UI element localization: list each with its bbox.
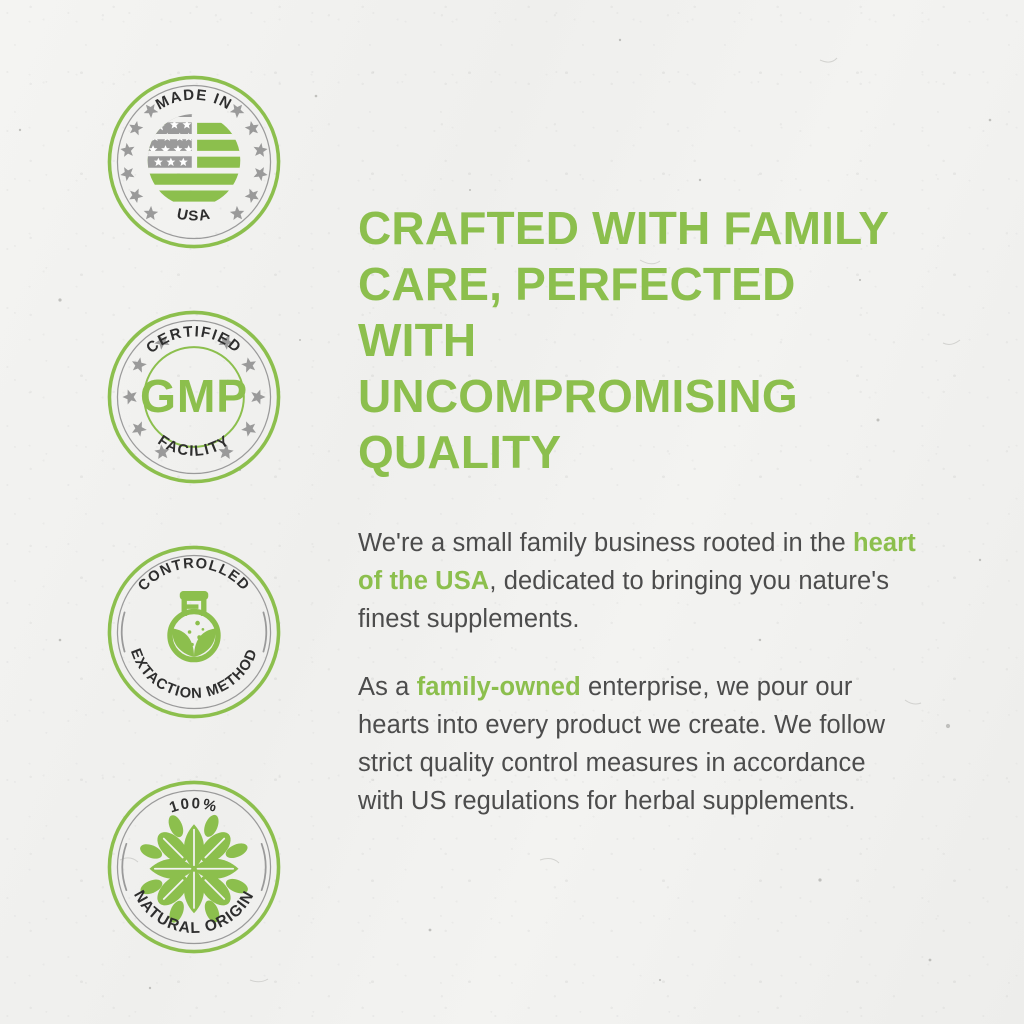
svg-text:CERTIFIED: CERTIFIED [143, 323, 245, 357]
badge-natural-origin: 100% NATURAL ORIGIN [105, 778, 283, 956]
plain-text: We're a small family business rooted in … [358, 529, 853, 557]
paragraph-1: We're a small family business rooted in … [358, 524, 918, 638]
badge-top-text: CONTROLLED [135, 556, 253, 595]
badge-controlled-extraction-method: CONTROLLED EXTACTION METHOD [105, 543, 283, 721]
badge-top-text: 100% [167, 795, 220, 816]
side-arc-decoration [122, 612, 266, 651]
usa-flag-circle-icon [137, 112, 247, 204]
badge-bottom-text: EXTACTION METHOD [127, 646, 261, 702]
svg-text:100%: 100% [167, 795, 220, 816]
paragraph-2: As a family-owned enterprise, we pour ou… [358, 668, 918, 820]
svg-text:EXTACTION METHOD: EXTACTION METHOD [127, 646, 261, 702]
badge-bottom-text: USA [175, 206, 212, 225]
promo-page: MADE IN USA [0, 0, 1024, 1024]
flask-leaf-icon [170, 591, 218, 660]
svg-text:USA: USA [175, 206, 212, 225]
badge-gmp-certified-facility: GMP CERTIFIED FACILITY [105, 308, 283, 486]
content-column: CRAFTED WITH FAMILY CARE, PERFECTED WITH… [358, 200, 918, 820]
gmp-text-icon: GMP [140, 370, 248, 422]
page-title: CRAFTED WITH FAMILY CARE, PERFECTED WITH… [358, 200, 918, 480]
body-copy: We're a small family business rooted in … [358, 524, 918, 820]
certification-badge-list: MADE IN USA [105, 73, 283, 1013]
plain-text: As a [358, 673, 417, 701]
badge-made-in-usa: MADE IN USA [105, 73, 283, 251]
badge-top-text: CERTIFIED [143, 323, 245, 357]
svg-text:CONTROLLED: CONTROLLED [135, 556, 253, 595]
emphasis-text: family-owned [417, 673, 581, 701]
